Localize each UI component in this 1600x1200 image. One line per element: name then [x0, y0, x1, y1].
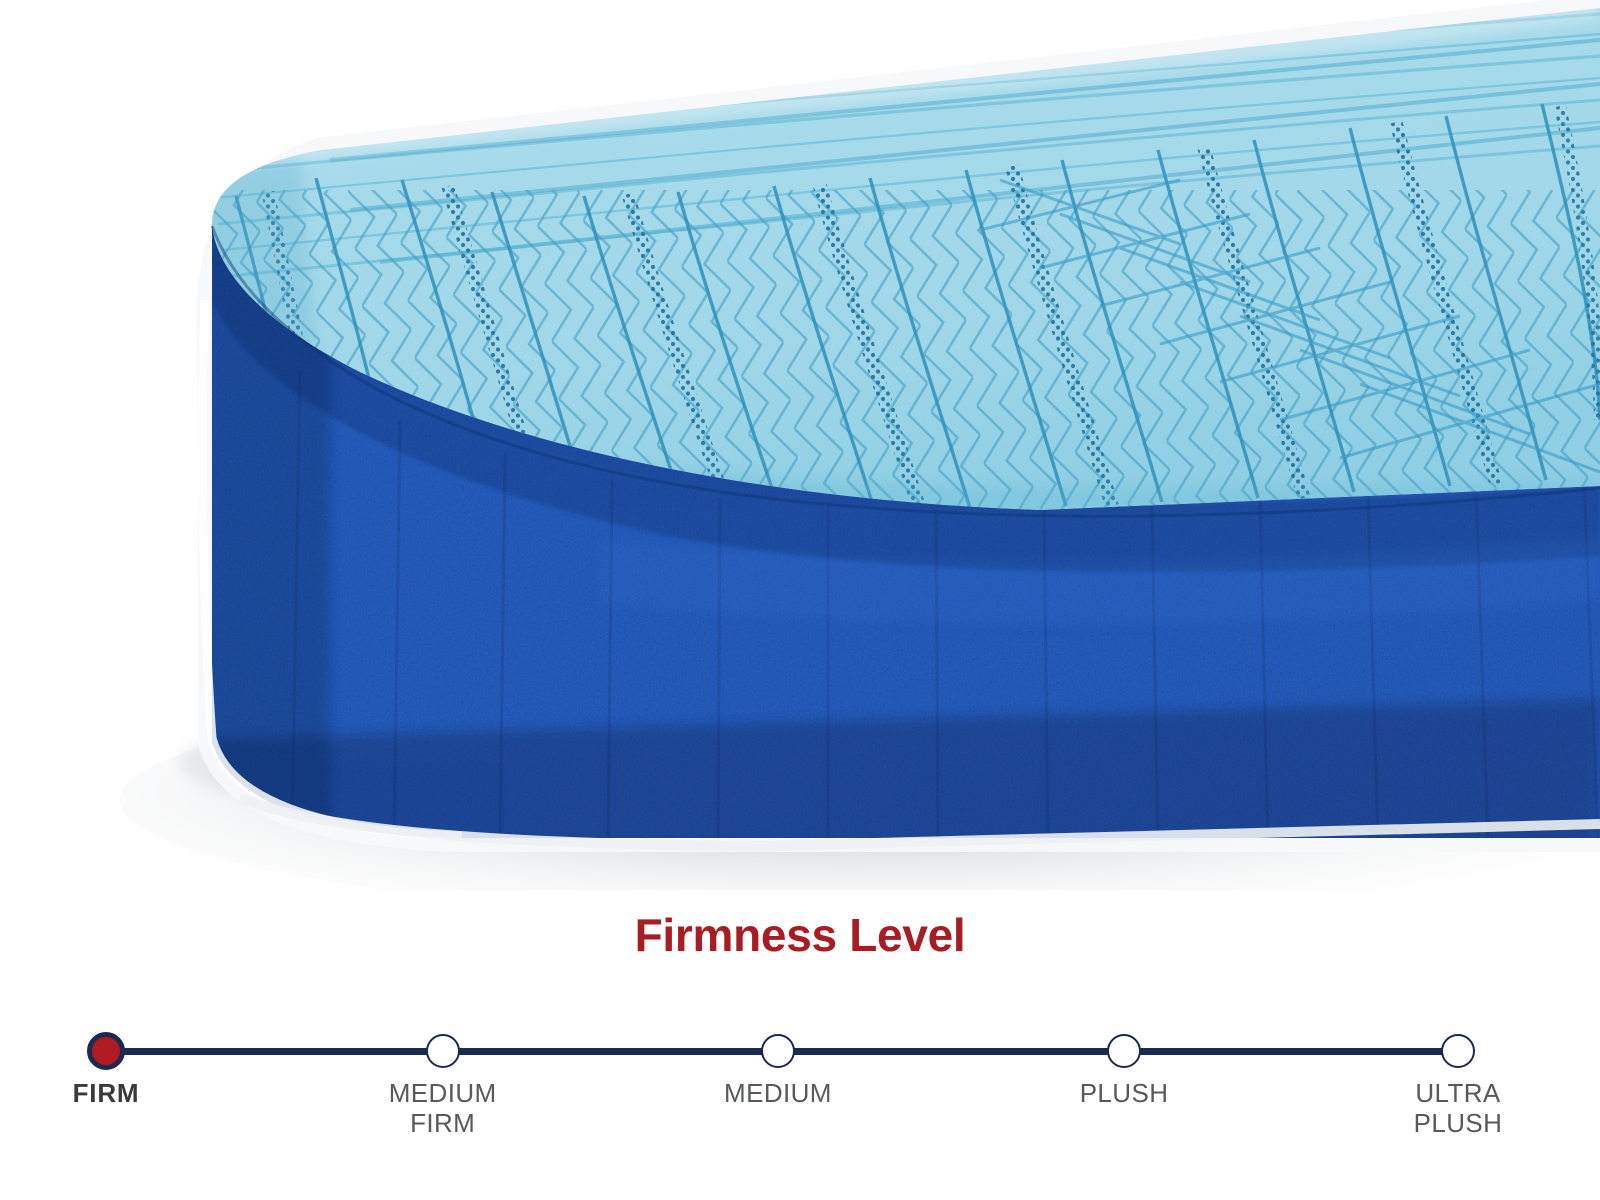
- product-image: [0, 0, 1600, 890]
- firmness-scale[interactable]: FIRM MEDIUM FIRM MEDIUM PLUSH ULTRA PLUS…: [106, 1020, 1458, 1180]
- firmness-label-medium-firm: MEDIUM FIRM: [323, 1078, 563, 1138]
- firmness-dot-medium[interactable]: [761, 1034, 795, 1068]
- firmness-dot-medium-firm[interactable]: [426, 1034, 460, 1068]
- mattress-illustration: [0, 0, 1600, 890]
- firmness-dot-plush[interactable]: [1107, 1034, 1141, 1068]
- firmness-title: Firmness Level: [0, 908, 1600, 962]
- firmness-section: Firmness Level FIRM MEDIUM FIRM MEDIUM P…: [0, 890, 1600, 1200]
- firmness-dot-ultra-plush[interactable]: [1441, 1034, 1475, 1068]
- firmness-dot-firm[interactable]: [87, 1032, 125, 1070]
- firmness-label-firm: FIRM: [0, 1078, 226, 1108]
- firmness-label-ultra-plush: ULTRA PLUSH: [1338, 1078, 1578, 1138]
- firmness-label-plush: PLUSH: [1004, 1078, 1244, 1108]
- firmness-label-medium: MEDIUM: [658, 1078, 898, 1108]
- page-root: Firmness Level FIRM MEDIUM FIRM MEDIUM P…: [0, 0, 1600, 1200]
